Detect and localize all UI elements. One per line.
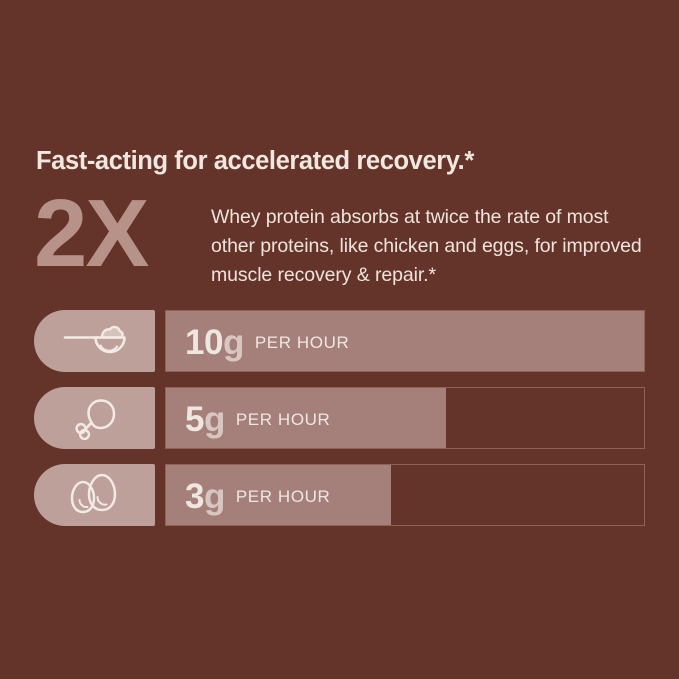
icon-tile bbox=[34, 387, 155, 449]
chart-row: 10g PER HOUR bbox=[34, 310, 645, 372]
bar-label: 5g PER HOUR bbox=[166, 388, 330, 450]
eggs-icon bbox=[67, 472, 123, 518]
bar-track: 3g PER HOUR bbox=[165, 464, 645, 526]
amount-unit: g bbox=[204, 477, 225, 516]
absorption-bar-chart: 10g PER HOUR bbox=[0, 0, 679, 679]
icon-tile bbox=[34, 464, 155, 526]
per-hour-label: PER HOUR bbox=[255, 334, 350, 351]
bar-label: 3g PER HOUR bbox=[166, 465, 330, 527]
bar-track: 10g PER HOUR bbox=[165, 310, 645, 372]
chicken-drumstick-icon bbox=[71, 394, 119, 442]
infographic-panel: Fast-acting for accelerated recovery.* 2… bbox=[0, 0, 679, 679]
protein-scoop-icon bbox=[62, 321, 128, 361]
chart-row: 5g PER HOUR bbox=[34, 387, 645, 449]
amount-unit: g bbox=[204, 400, 225, 439]
amount-value: 5g bbox=[185, 402, 225, 437]
per-hour-label: PER HOUR bbox=[236, 411, 331, 428]
chart-row: 3g PER HOUR bbox=[34, 464, 645, 526]
icon-tile bbox=[34, 310, 155, 372]
bar-track: 5g PER HOUR bbox=[165, 387, 645, 449]
amount-value: 10g bbox=[185, 325, 244, 360]
amount-unit: g bbox=[223, 323, 244, 362]
per-hour-label: PER HOUR bbox=[236, 488, 331, 505]
amount-value: 3g bbox=[185, 479, 225, 514]
bar-label: 10g PER HOUR bbox=[166, 311, 349, 373]
